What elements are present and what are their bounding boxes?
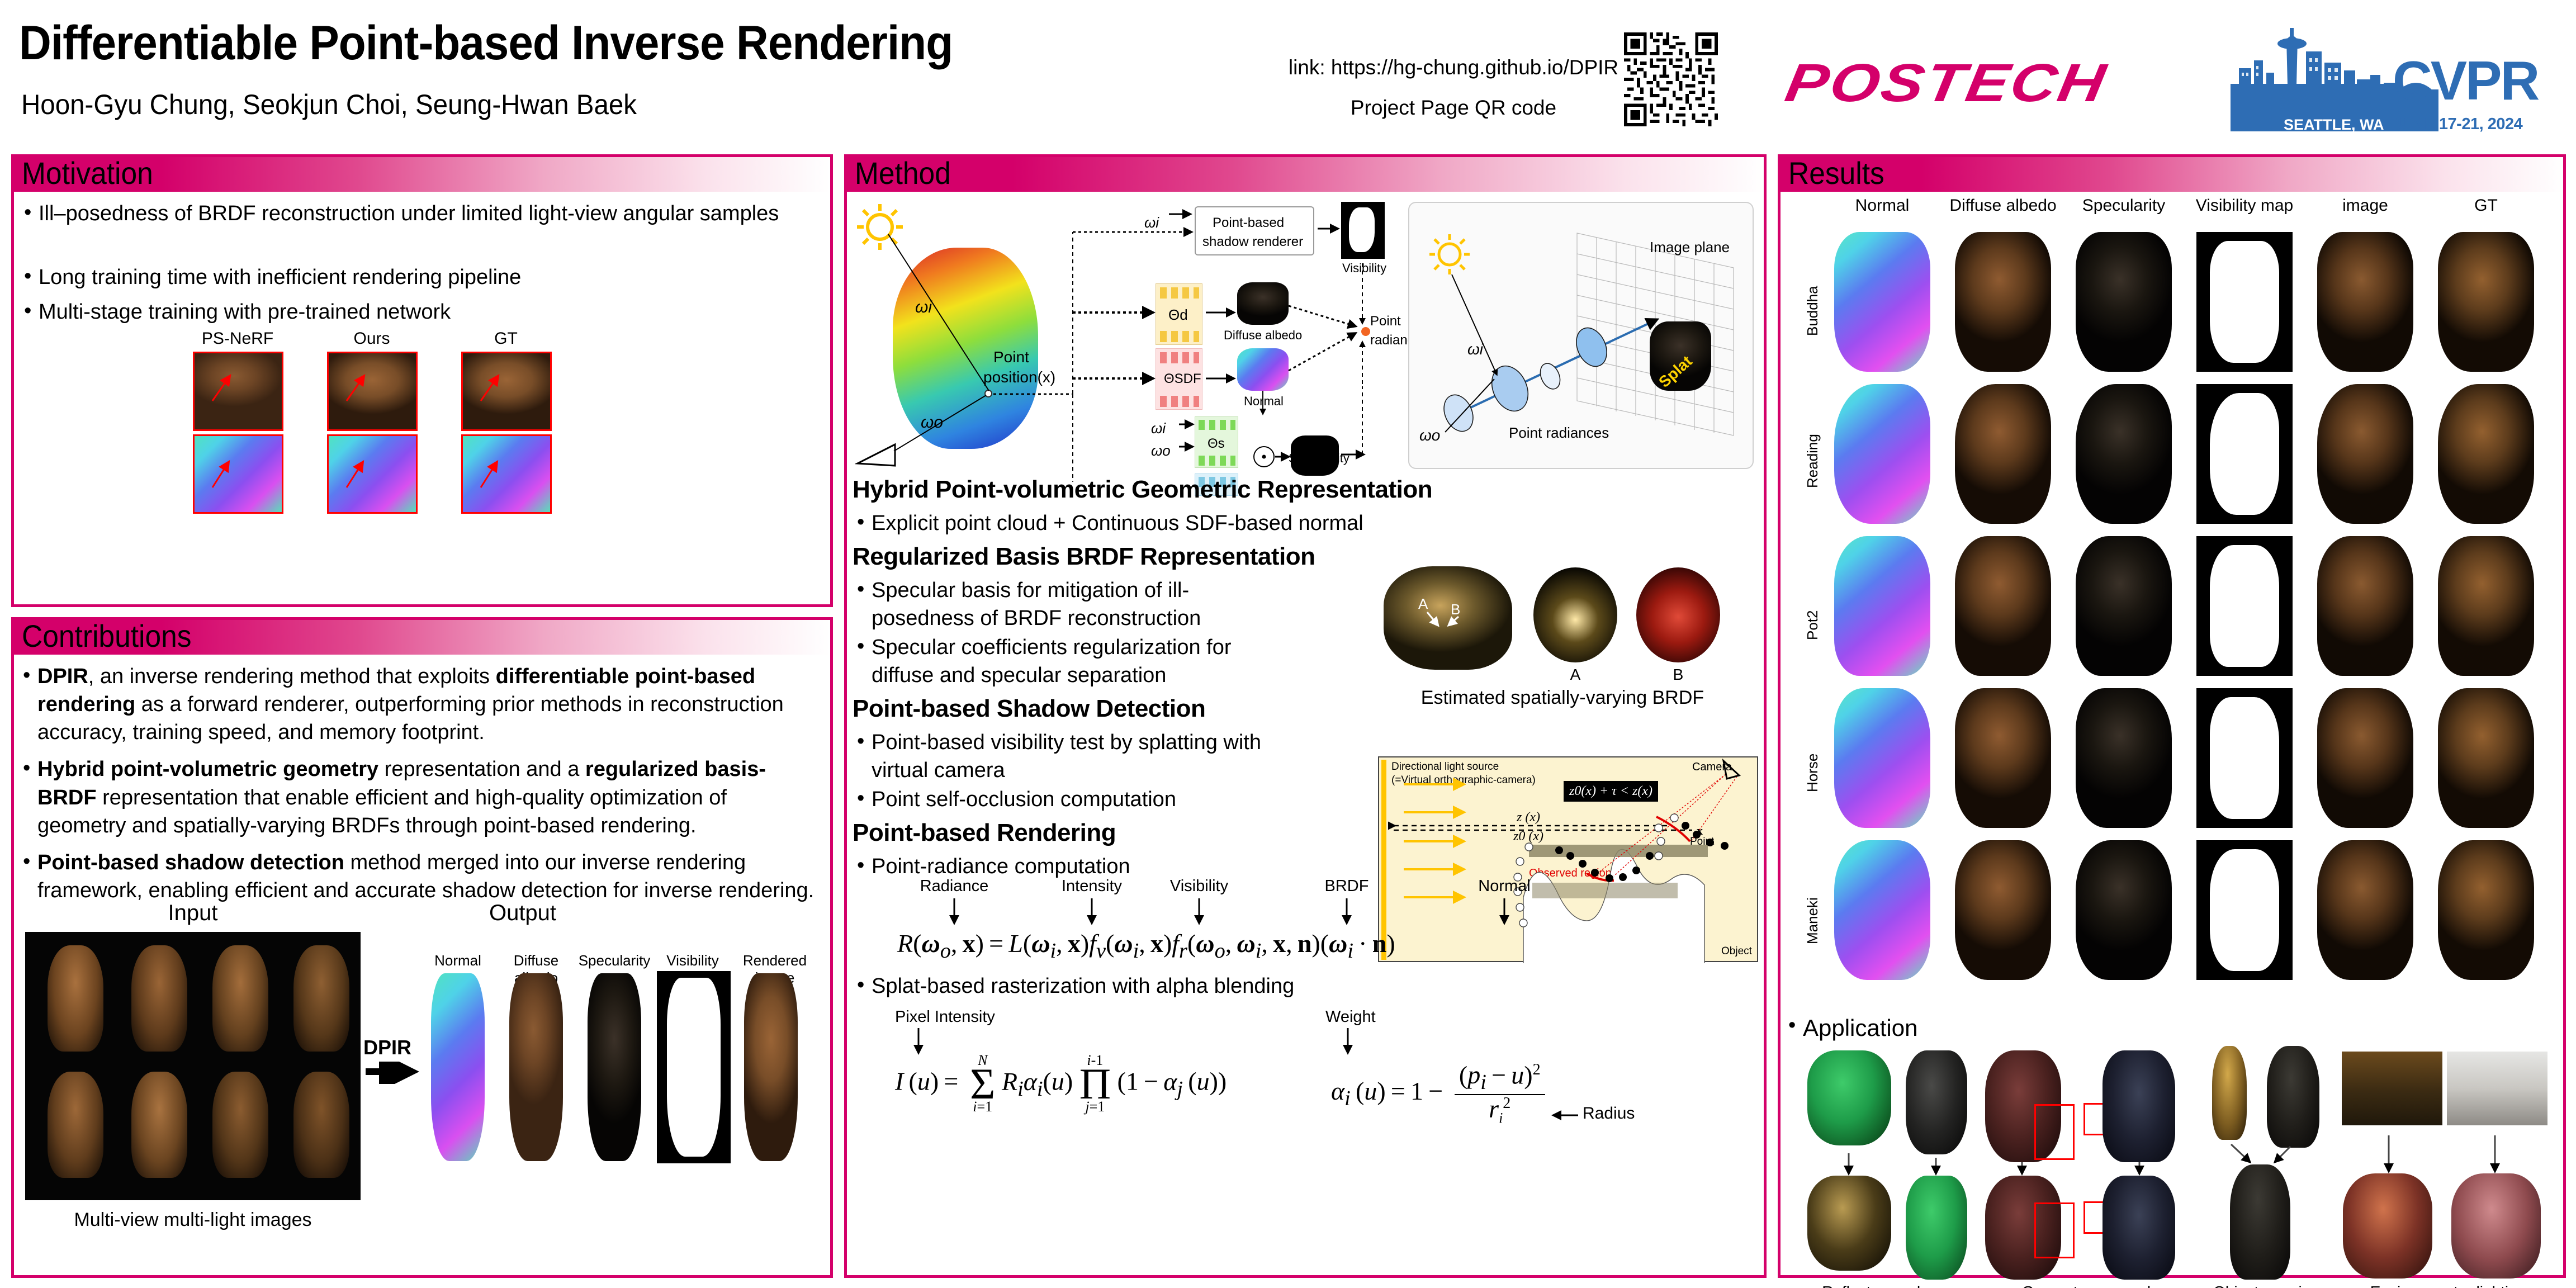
results-column-label-0: Normal (1822, 196, 1943, 215)
output-image-specularity (588, 973, 641, 1161)
results-cell-reading-normal (1834, 384, 1930, 524)
method-section-title-3: Point-based Rendering (853, 819, 1116, 847)
red-arrow-icon (329, 353, 418, 431)
results-column-label-5: GT (2426, 196, 2546, 215)
results-cell-horse-diffuse-albedo (1955, 688, 2051, 828)
eq1-label-normal: Normal (1460, 877, 1549, 896)
cvpr-logo: CVPR SEATTLE, WA JUNE 17-21, 2024 (2208, 17, 2566, 140)
results-cell-pot2-normal (1834, 536, 1930, 676)
results-column-label-3: Visibility map (2184, 196, 2305, 215)
method-header: Method (847, 157, 1764, 192)
pipeline-input-label: Input (126, 901, 260, 926)
results-cell-reading-gt (2438, 384, 2534, 524)
motivation-bullet-2: Long training time with inefficient rend… (22, 263, 804, 291)
cvpr-location: SEATTLE, WA (2284, 116, 2384, 134)
results-row-label-0: Buddha (1804, 286, 1821, 336)
compare-col-label-2: GT (450, 329, 562, 348)
compare-image-psnerf-normal (193, 434, 283, 514)
compare-col-label-0: PS-NeRF (182, 329, 293, 348)
cvpr-wordmark: CVPR (2393, 49, 2538, 112)
poster-header: Differentiable Point-based Inverse Rende… (0, 0, 2576, 150)
results-column-label-4: image (2305, 196, 2426, 215)
results-row-label-4: Maneki (1804, 897, 1821, 944)
output-strip: Normal Diffuse albedo Specularity Visibi… (421, 952, 816, 1204)
output-image-normal (431, 973, 485, 1161)
method-section-bullet-1-0: Specular basis for mitigation of ill-pos… (855, 576, 1280, 632)
results-cell-pot2-image (2317, 536, 2413, 676)
contributions-header: Contributions (14, 620, 830, 655)
qr-code-icon[interactable] (1624, 32, 1718, 126)
splat-wo-label: ωo (1419, 427, 1440, 444)
eq1-label-visibility: Visibility (1154, 877, 1244, 896)
motivation-header: Motivation (14, 157, 830, 192)
red-arrow-icon (329, 436, 418, 514)
brdf-figure-caption: Estimated spatially-varying BRDF (1378, 687, 1747, 709)
input-image-grid (25, 932, 361, 1200)
results-cell-pot2-diffuse-albedo (1955, 536, 2051, 676)
radius-arrow-icon (1550, 1107, 1584, 1124)
eq2-label-pixel-intensity: Pixel Intensity (895, 1008, 1040, 1026)
motivation-panel: Motivation Ill–posedness of BRDF reconst… (11, 154, 833, 607)
red-arrow-icon (195, 353, 283, 431)
splat-wi-label: ωi (1467, 340, 1483, 358)
method-section-bullet-3-1: Splat-based rasterization with alpha ble… (855, 972, 1358, 1000)
output-image-rendered (744, 973, 798, 1161)
app-caption-3: Environment relighting (2347, 1283, 2549, 1288)
output-caption-0: Normal (421, 952, 495, 969)
results-cell-horse-specularity (2076, 688, 2172, 828)
project-link-block: link: https://hg-chung.github.io/DPIR Pr… (1224, 56, 1683, 120)
compare-image-gt-rendered (461, 352, 552, 431)
eq2-label-weight: Weight (1325, 1008, 1437, 1026)
contributions-bullet-list: DPIR, an inverse rendering method that e… (21, 662, 815, 913)
image-plane-label: Image plane (1650, 239, 1730, 256)
results-cell-reading-specularity (2076, 384, 2172, 524)
results-title: Results (1788, 156, 1884, 191)
results-cell-maneki-specularity (2076, 840, 2172, 980)
results-cell-buddha-diffuse-albedo (1955, 232, 2051, 372)
results-column-label-1: Diffuse albedo (1943, 196, 2063, 215)
project-link[interactable]: link: https://hg-chung.github.io/DPIR (1224, 56, 1683, 79)
brdf-sphere-b (1636, 567, 1720, 662)
output-caption-2: Specularity (577, 952, 651, 969)
splatting-subfigure: Image plane Splat Point radiances (1408, 202, 1754, 469)
qr-caption: Project Page QR code (1224, 96, 1683, 120)
red-arrow-icon (463, 353, 552, 431)
results-cell-maneki-diffuse-albedo (1955, 840, 2051, 980)
page-title: Differentiable Point-based Inverse Rende… (19, 16, 953, 71)
input-caption: Multi-view multi-light images (25, 1209, 361, 1231)
results-cell-buddha-specularity (2076, 232, 2172, 372)
app-caption-1: Geometry removal (1994, 1283, 2179, 1288)
application-bullet: Application (1786, 1012, 1917, 1043)
equation2-left-body: I (u) = N Σ i=1 Riαi(u) i-1 Π j=1 (1 − α… (895, 1055, 1227, 1113)
method-section-bullet-2-1: Point self-occlusion computation (855, 785, 1280, 813)
method-section-title-2: Point-based Shadow Detection (853, 695, 1205, 723)
method-section-bullet-3-0: Point-radiance computation (855, 853, 1280, 880)
results-cell-horse-image (2317, 688, 2413, 828)
author-list: Hoon-Gyu Chung, Seokjun Choi, Seung-Hwan… (21, 88, 637, 121)
contributions-bullet-1: DPIR, an inverse rendering method that e… (21, 662, 815, 746)
application-arrows (1788, 1046, 2559, 1281)
results-cell-pot2-gt (2438, 536, 2534, 676)
results-cell-pot2-specularity (2076, 536, 2172, 676)
motivation-title: Motivation (22, 156, 153, 191)
results-cell-horse-gt (2438, 688, 2534, 828)
brdf-sphere-b-label: B (1636, 666, 1720, 684)
method-section-bullet-2-0: Point-based visibility test by splatting… (855, 728, 1280, 784)
brdf-object-image: A B (1384, 566, 1512, 670)
pipeline-output-label: Output (456, 901, 590, 926)
compare-image-ours-normal (327, 434, 418, 514)
dpir-arrow-label: DPIR (363, 1036, 411, 1059)
application-figures: Reflectance change Geometry removal Obje… (1788, 1046, 2559, 1270)
app-caption-0: Reflectance change (1807, 1283, 1975, 1288)
dpir-arrow-icon (363, 1062, 419, 1084)
equation-radiance: Radiance Intensity Visibility BRDF Norma… (897, 877, 1691, 961)
contributions-bullet-3: Point-based shadow detection method merg… (21, 849, 815, 905)
brdf-sphere-a-label: A (1533, 666, 1617, 684)
visibility-mask (2210, 393, 2279, 515)
red-arrow-icon (195, 436, 283, 514)
results-cell-reading-visibility-map (2196, 384, 2293, 524)
visibility-mask (2210, 849, 2279, 971)
results-row-label-3: Horse (1804, 753, 1821, 792)
contributions-title: Contributions (22, 619, 192, 654)
results-cell-reading-image (2317, 384, 2413, 524)
equation1-arrows (897, 896, 1624, 930)
results-row-label-2: Pot2 (1804, 610, 1821, 640)
results-cell-maneki-image (2317, 840, 2413, 980)
results-cell-buddha-visibility-map (2196, 232, 2293, 372)
method-title: Method (855, 156, 951, 191)
results-cell-horse-normal (1834, 688, 1930, 828)
splat-direction-vectors (1425, 264, 1559, 454)
compare-image-gt-normal (461, 434, 552, 514)
brdf-sphere-a (1533, 567, 1617, 662)
visibility-mask (2210, 697, 2279, 819)
results-column-label-2: Specularity (2063, 196, 2184, 215)
results-cell-maneki-gt (2438, 840, 2534, 980)
results-cell-horse-visibility-map (2196, 688, 2293, 828)
results-header: Results (1781, 157, 2563, 192)
eq1-label-intensity: Intensity (1047, 877, 1137, 896)
method-section-title-0: Hybrid Point-volumetric Geometric Repres… (853, 476, 1432, 504)
compare-image-ours-rendered (327, 352, 418, 431)
results-cell-pot2-visibility-map (2196, 536, 2293, 676)
equation2-right-body: αi (u) = 1 − (pi − u)2 ri2 (1331, 1062, 1545, 1126)
equation-rasterization: Pixel Intensity Weight I (u) = N Σ i=1 R… (884, 1008, 1756, 1131)
visibility-mask (2210, 545, 2279, 667)
results-panel: Results NormalDiffuse albedoSpecularityV… (1778, 154, 2566, 1278)
results-cell-buddha-normal (1834, 232, 1930, 372)
cvpr-dates: JUNE 17-21, 2024 (2393, 115, 2522, 134)
red-arrow-icon (463, 436, 552, 514)
eq1-label-radiance: Radiance (910, 877, 999, 896)
equation1-body: R(ωo, x) = L(ωi, x)fv(ωi, x)fr(ωo, ωi, x… (897, 929, 1395, 963)
contributions-bullet-2: Hybrid point-volumetric geometry represe… (21, 755, 815, 839)
eq2-radius-label: Radius (1583, 1104, 1635, 1123)
postech-logo: POSTECH (1781, 53, 2112, 114)
app-caption-2: Object merging (2202, 1283, 2331, 1288)
results-cell-maneki-normal (1834, 840, 1930, 980)
brdf-figure: A B A B Estimated spatially-varying BRDF (1378, 561, 1758, 728)
diagram-connectors (849, 194, 1408, 485)
method-pipeline-diagram: Point position(x) ωi ωo Point-based shad… (849, 194, 1760, 473)
results-cell-reading-diffuse-albedo (1955, 384, 2051, 524)
method-panel: Method Point position(x) (844, 154, 1767, 1278)
results-row-label-1: Reading (1804, 434, 1821, 488)
compare-col-label-1: Ours (316, 329, 428, 348)
eq1-label-brdf: BRDF (1302, 877, 1391, 896)
method-section-bullet-0-0: Explicit point cloud + Continuous SDF-ba… (855, 509, 1498, 537)
visibility-mask (2210, 241, 2279, 363)
results-cell-maneki-visibility-map (2196, 840, 2293, 980)
output-image-diffuse-albedo (509, 973, 563, 1161)
results-cell-buddha-image (2317, 232, 2413, 372)
motivation-bullet-1: Ill–posedness of BRDF reconstruction und… (22, 200, 804, 228)
results-cell-buddha-gt (2438, 232, 2534, 372)
motivation-bullet-3: Multi-stage training with pre-trained ne… (22, 298, 804, 326)
compare-image-psnerf-rendered (193, 352, 283, 431)
output-image-visibility-map (657, 971, 731, 1163)
brdf-point-arrows (1384, 566, 1512, 670)
method-section-bullet-1-1: Specular coefficients regularization for… (855, 633, 1280, 689)
method-section-title-1: Regularized Basis BRDF Representation (853, 543, 1315, 571)
contributions-panel: Contributions DPIR, an inverse rendering… (11, 617, 833, 1278)
